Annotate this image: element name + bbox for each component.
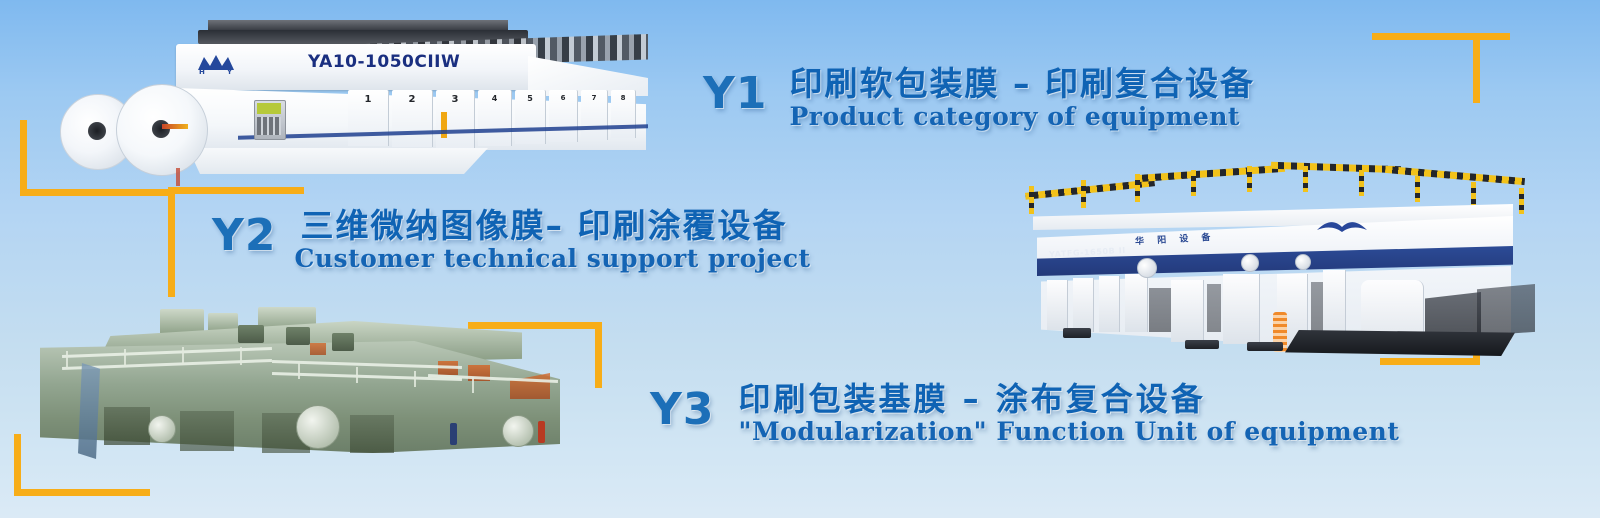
brand-logo-bird-icon: [1315, 216, 1369, 236]
section-code-y1: Y1: [703, 72, 767, 116]
unit-number: 2: [409, 94, 416, 105]
machine-model-label: YA10-1050CIIW: [308, 52, 460, 72]
section-title-cn-y2: 三维微纳图像膜– 印刷涂覆设备: [300, 208, 810, 244]
section-title-en-y1: Product category of equipment: [789, 104, 1254, 130]
svg-text:H: H: [199, 68, 205, 76]
print-unit-group: 1 2 3 4 5 6 7 8: [348, 90, 646, 152]
section-title-en-y3: "Modularization" Function Unit of equipm…: [738, 419, 1399, 445]
section-title-cn-y3: 印刷包装基膜 – 涂布复合设备: [738, 382, 1399, 417]
machine-photo-coating-laminator: 华 阳 设 备 YATFG-1650B II: [985, 162, 1545, 362]
machine-photo-printing-press: H Y YA10-1050CIIW 1 2 3 4 5 6: [58, 8, 598, 178]
unit-number: 7: [592, 94, 597, 102]
brand-logo-hy-icon: H Y: [194, 52, 240, 76]
unit-number: 5: [527, 94, 533, 103]
section-code-y3: Y3: [650, 388, 714, 432]
section-heading-y3: Y3 印刷包装基膜 – 涂布复合设备 "Modularization" Func…: [650, 382, 1399, 445]
promo-banner: H Y YA10-1050CIIW 1 2 3 4 5 6: [0, 0, 1600, 518]
operator-figure: [538, 421, 545, 443]
unit-number: 4: [492, 94, 498, 103]
section-title-en-y2: Customer technical support project: [294, 246, 810, 272]
section-code-y2: Y2: [212, 214, 276, 258]
unit-number: 1: [365, 94, 372, 105]
machine-photo-coating-line: [32, 303, 572, 481]
svg-text:Y: Y: [226, 68, 233, 76]
operator-figure: [450, 423, 457, 445]
unit-number: 8: [621, 94, 626, 102]
section-title-cn-y1: 印刷软包装膜 – 印刷复合设备: [789, 66, 1254, 102]
unit-number: 3: [452, 94, 459, 105]
unit-number: 6: [561, 94, 566, 102]
section-heading-y1: Y1 印刷软包装膜 – 印刷复合设备 Product category of e…: [703, 66, 1255, 130]
section-heading-y2: Y2 三维微纳图像膜– 印刷涂覆设备 Customer technical su…: [212, 208, 811, 272]
